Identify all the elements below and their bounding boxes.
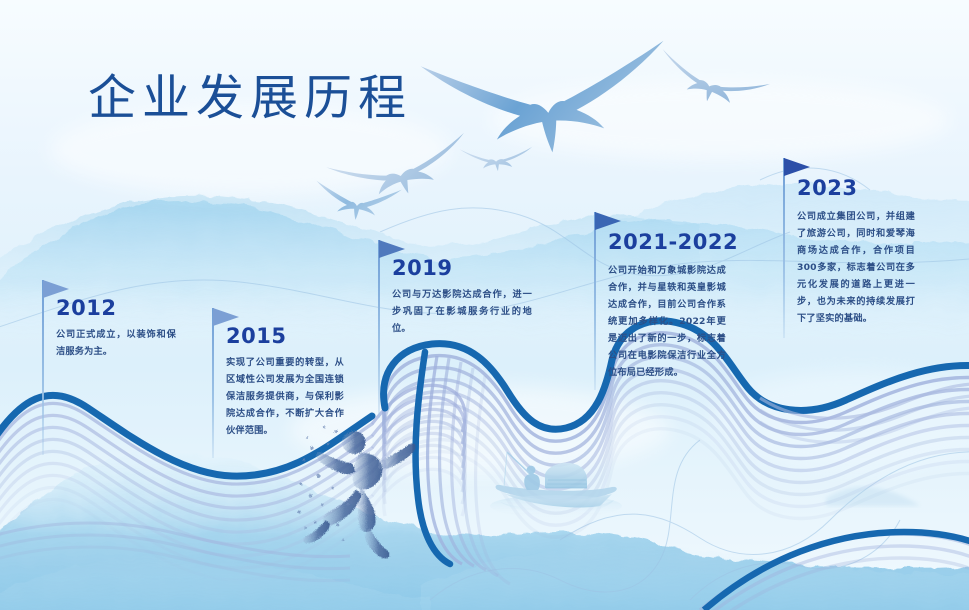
- flag-icon: [595, 212, 621, 230]
- flag-pole: [594, 212, 596, 390]
- milestone-description: 实现了公司重要的转型，从区域性公司发展为全国连锁保洁服务提供商，与保利影院达成合…: [226, 354, 344, 439]
- infographic-canvas: 企业发展历程 2012 公司正式成立，以装饰和保洁服务为主。 2015 实现了公…: [0, 0, 969, 610]
- milestone-description: 公司开始和万象城影院达成合作，并与星轶和英皇影城达成合作，目前公司合作系统更加多…: [608, 262, 726, 381]
- bird-icon: [460, 147, 534, 173]
- milestone-year: 2015: [226, 324, 286, 348]
- bird-icon: [652, 49, 770, 118]
- flag-pole: [212, 308, 214, 458]
- bird-icon: [421, 41, 674, 165]
- milestone-year: 2023: [797, 176, 857, 200]
- milestone-description: 公司正式成立，以装饰和保洁服务为主。: [56, 326, 176, 360]
- flag-pole: [42, 280, 44, 455]
- page-title: 企业发展历程: [88, 58, 412, 128]
- milestone-year: 2019: [392, 256, 452, 280]
- flag-pole: [783, 158, 785, 338]
- milestone-year: 2021-2022: [608, 230, 738, 254]
- milestone-year: 2012: [56, 296, 116, 320]
- flag-pole: [378, 240, 380, 418]
- milestone-description: 公司与万达影院达成合作，进一步巩固了在影城服务行业的地位。: [392, 286, 532, 337]
- bird-icon: [326, 133, 475, 211]
- flag-icon: [784, 158, 810, 176]
- milestone-description: 公司成立集团公司，并组建了旅游公司，同时和爱琴海商场达成合作，合作项目300多家…: [797, 208, 915, 327]
- bird-icon: [313, 181, 402, 225]
